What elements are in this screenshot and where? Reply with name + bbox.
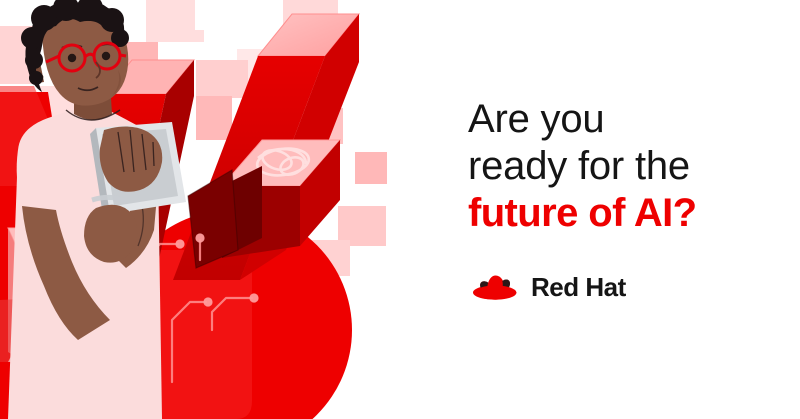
- hero-illustration: [0, 0, 420, 419]
- headline-line-3-accent: future of AI?: [468, 190, 768, 237]
- red-hat-ai-banner: Are you ready for the future of AI? Red …: [0, 0, 800, 419]
- headline-line-1: Are you: [468, 96, 768, 143]
- red-hat-logo[interactable]: Red Hat: [468, 268, 643, 313]
- headline-block: Are you ready for the future of AI?: [468, 96, 768, 237]
- red-hat-wordmark: Red Hat: [531, 271, 643, 310]
- headline-line-2: ready for the: [468, 143, 768, 190]
- svg-text:Red Hat: Red Hat: [531, 272, 627, 302]
- red-hat-fedora-icon: [468, 268, 522, 313]
